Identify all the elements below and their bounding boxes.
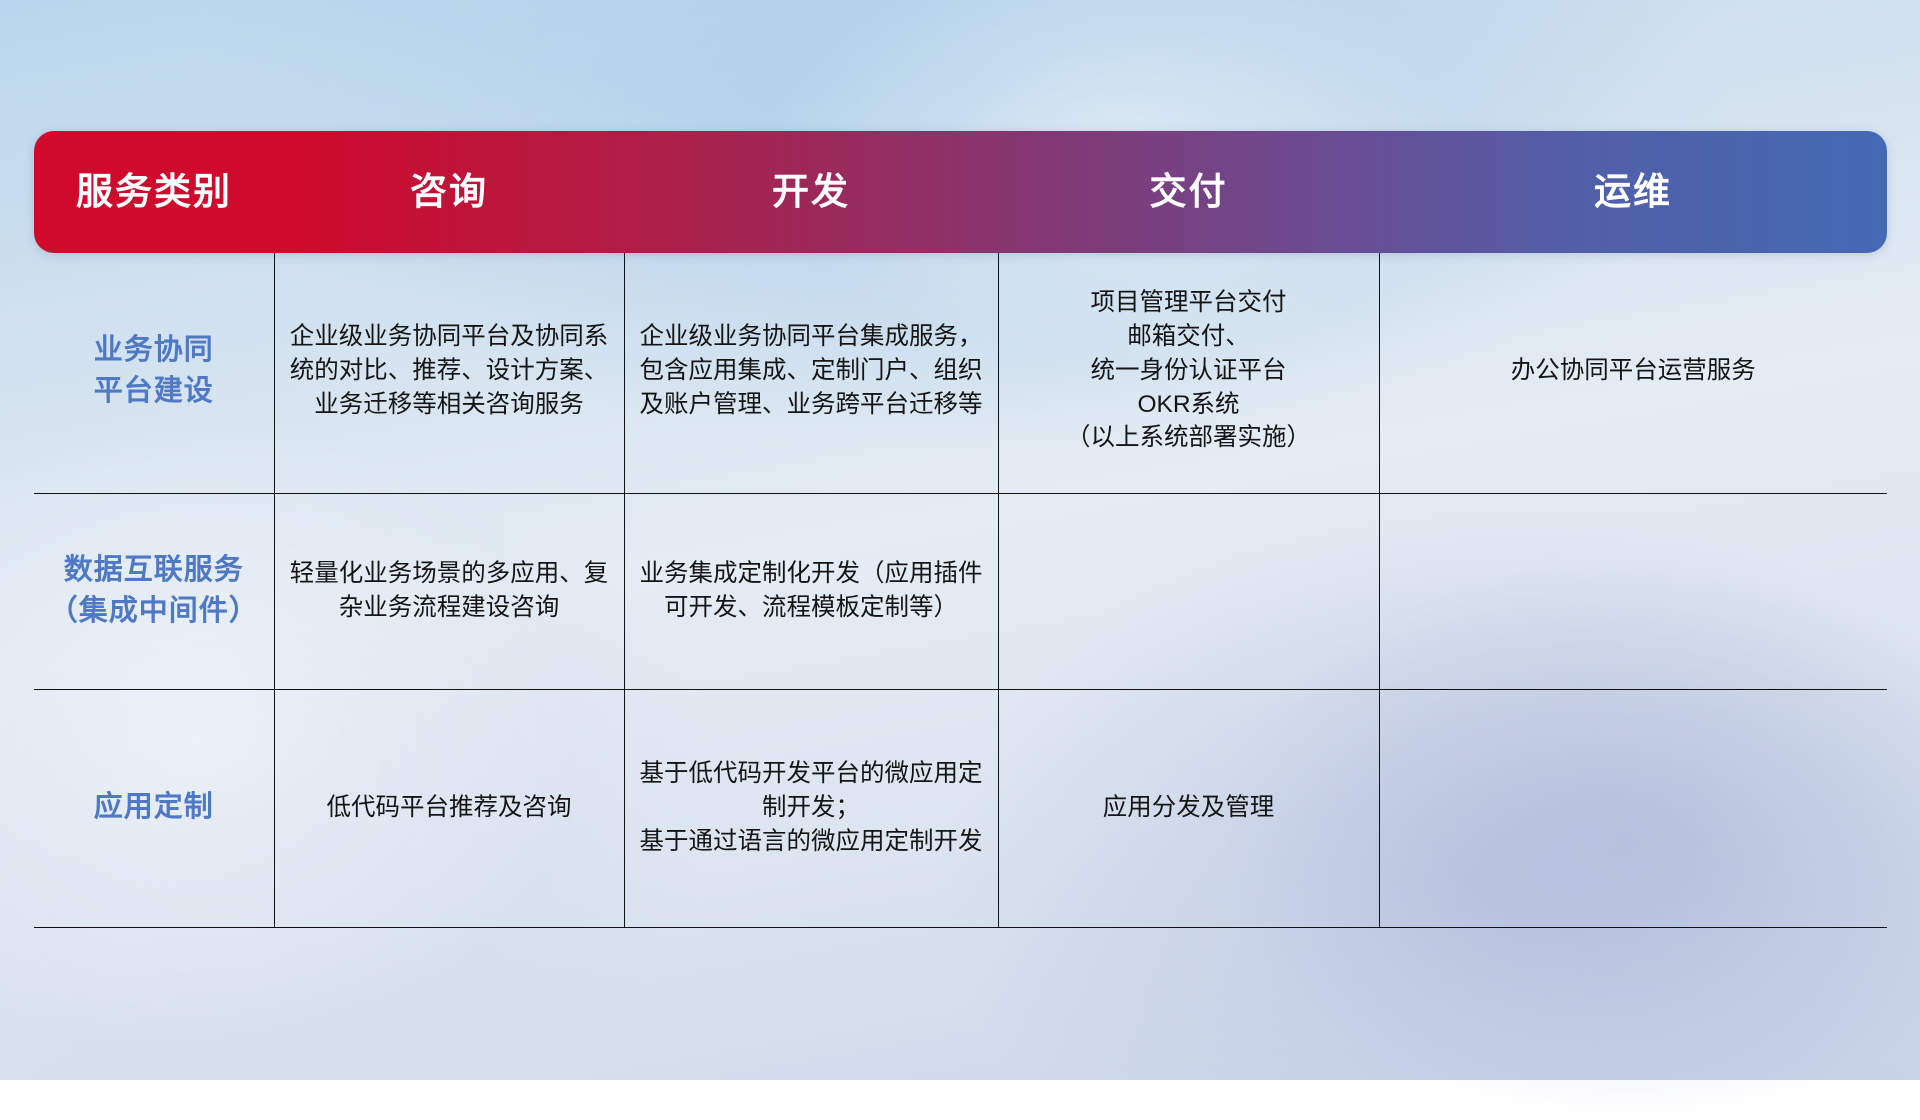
row-delivery-cell: 应用分发及管理 (998, 689, 1379, 927)
row-consulting-cell: 低代码平台推荐及咨询 (274, 689, 624, 927)
row-development-cell: 企业级业务协同平台集成服务， 包含应用集成、定制门户、组织 及账户管理、业务跨平… (624, 249, 998, 493)
table-header-cell-consulting: 咨询 (274, 172, 624, 213)
table-header-cell-operations: 运维 (1379, 172, 1887, 213)
row-delivery-cell (998, 493, 1379, 689)
row-delivery-text: 应用分发及管理 (1013, 791, 1365, 825)
table-row: 应用定制 低代码平台推荐及咨询 基于低代码开发平台的微应用定 制开发； 基于通过… (34, 689, 1887, 927)
table-row: 业务协同 平台建设 企业级业务协同平台及协同系 统的对比、推荐、设计方案、 业务… (34, 249, 1887, 493)
table-header-cell-delivery: 交付 (998, 172, 1379, 213)
row-consulting-text: 低代码平台推荐及咨询 (289, 791, 610, 825)
row-consulting-text: 企业级业务协同平台及协同系 统的对比、推荐、设计方案、 业务迁移等相关咨询服务 (289, 320, 610, 421)
row-development-cell: 基于低代码开发平台的微应用定 制开发； 基于通过语言的微应用定制开发 (624, 689, 998, 927)
table-row: 数据互联服务 （集成中间件） 轻量化业务场景的多应用、复 杂业务流程建设咨询 业… (34, 493, 1887, 689)
row-delivery-text: 项目管理平台交付 邮箱交付、 统一身份认证平台 OKR系统 （以上系统部署实施） (1013, 286, 1365, 455)
row-category-label: 数据互联服务 （集成中间件） (48, 550, 260, 632)
row-category-label: 业务协同 平台建设 (48, 330, 260, 412)
table-header-cell-service-category: 服务类别 (34, 172, 274, 213)
service-matrix-table: 服务类别 咨询 开发 交付 运维 业务协同 平台建设 企业级业务协同平台及协同系… (34, 131, 1887, 928)
row-category-cell: 数据互联服务 （集成中间件） (34, 493, 274, 689)
row-consulting-cell: 企业级业务协同平台及协同系 统的对比、推荐、设计方案、 业务迁移等相关咨询服务 (274, 249, 624, 493)
table-header-cell-development: 开发 (624, 172, 998, 213)
row-operations-cell: 办公协同平台运营服务 (1379, 249, 1887, 493)
row-development-text: 基于低代码开发平台的微应用定 制开发； 基于通过语言的微应用定制开发 (639, 757, 984, 858)
table-body: 业务协同 平台建设 企业级业务协同平台及协同系 统的对比、推荐、设计方案、 业务… (34, 249, 1887, 928)
row-development-text: 企业级业务协同平台集成服务， 包含应用集成、定制门户、组织 及账户管理、业务跨平… (639, 320, 984, 421)
row-consulting-cell: 轻量化业务场景的多应用、复 杂业务流程建设咨询 (274, 493, 624, 689)
row-category-label: 应用定制 (48, 787, 260, 828)
row-development-text: 业务集成定制化开发（应用插件 可开发、流程模板定制等） (639, 557, 984, 625)
row-operations-cell (1379, 493, 1887, 689)
table-header-row: 服务类别 咨询 开发 交付 运维 (34, 131, 1887, 253)
row-consulting-text: 轻量化业务场景的多应用、复 杂业务流程建设咨询 (289, 557, 610, 625)
row-category-cell: 业务协同 平台建设 (34, 249, 274, 493)
slide-canvas: 服务类别 咨询 开发 交付 运维 业务协同 平台建设 企业级业务协同平台及协同系… (0, 0, 1920, 1080)
row-operations-text: 办公协同平台运营服务 (1394, 354, 1874, 388)
row-operations-cell (1379, 689, 1887, 927)
row-development-cell: 业务集成定制化开发（应用插件 可开发、流程模板定制等） (624, 493, 998, 689)
row-category-cell: 应用定制 (34, 689, 274, 927)
row-delivery-cell: 项目管理平台交付 邮箱交付、 统一身份认证平台 OKR系统 （以上系统部署实施） (998, 249, 1379, 493)
